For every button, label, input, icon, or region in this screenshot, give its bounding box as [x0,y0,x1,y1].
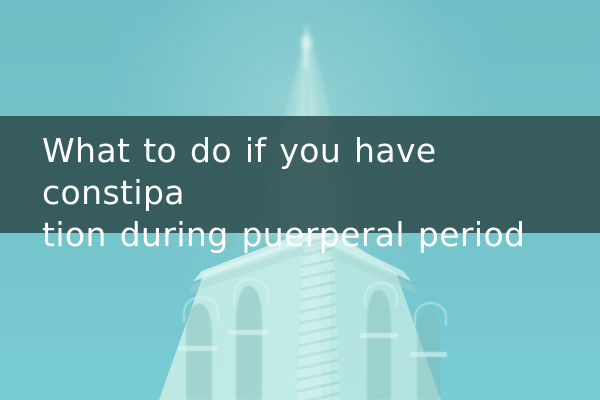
tower-window-arch-left-inner [233,278,269,304]
tower-window-sill-right-inner [360,333,398,338]
tower-window-arch-right-outer [414,302,447,326]
tower-window-arch-right-inner [364,282,398,307]
spire-finial [301,36,312,49]
caption-band: What to do if you have constipa tion dur… [0,116,600,233]
page-title: What to do if you have constipa tion dur… [42,130,582,256]
tower-window-sill-left-inner [228,330,268,335]
tower-window-sill-left-outer [178,346,218,351]
tower-window-arch-left-outer [183,296,219,322]
title-card: What to do if you have constipa tion dur… [0,0,600,400]
tower-window-sill-right-outer [410,352,447,357]
